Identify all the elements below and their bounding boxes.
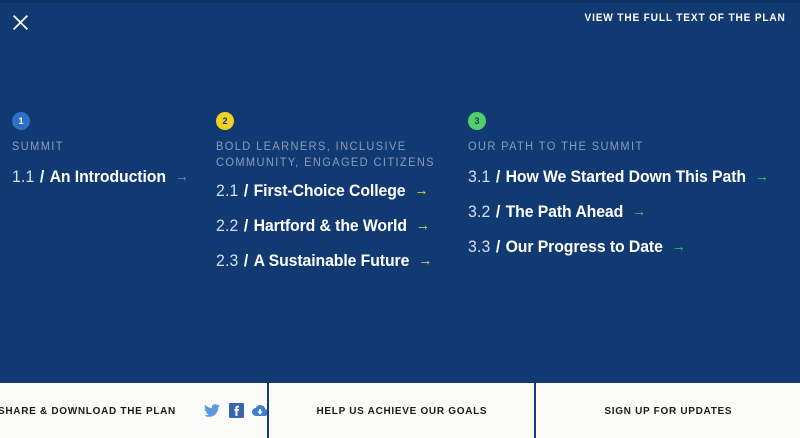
plan-section-1: 1 SUMMIT 1.1 / An Introduction → <box>12 112 207 202</box>
link-number: 2.1 <box>216 181 239 200</box>
link-title: The Path Ahead <box>506 202 624 221</box>
link-separator: / <box>495 167 501 186</box>
close-icon <box>12 14 29 31</box>
link-number: 3.1 <box>468 167 491 186</box>
plan-section-2: 2 BOLD LEARNERS, INCLUSIVE COMMUNITY, EN… <box>216 112 461 286</box>
plan-navigation-overlay: VIEW THE FULL TEXT OF THE PLAN 1 SUMMIT … <box>0 0 800 438</box>
link-separator: / <box>39 167 45 186</box>
sign-up-updates-label: SIGN UP FOR UPDATES <box>604 405 732 417</box>
link-number: 3.2 <box>468 202 491 221</box>
link-number: 2.3 <box>216 251 239 270</box>
sign-up-updates-cell[interactable]: SIGN UP FOR UPDATES <box>534 383 800 438</box>
link-separator: / <box>243 251 249 270</box>
link-title: Our Progress to Date <box>506 237 663 256</box>
arrow-right-icon: → <box>628 203 647 220</box>
plan-link-2-1[interactable]: 2.1 / First-Choice College → <box>216 181 444 201</box>
help-us-achieve-goals-label: HELP US ACHIEVE OUR GOALS <box>316 405 487 417</box>
link-separator: / <box>495 237 501 256</box>
plan-link-2-2[interactable]: 2.2 / Hartford & the World → <box>216 216 444 236</box>
arrow-right-icon: → <box>750 168 769 185</box>
plan-link-2-3[interactable]: 2.3 / A Sustainable Future → <box>216 251 444 271</box>
link-list-2: 2.1 / First-Choice College → 2.2 / Hartf… <box>216 181 461 271</box>
section-title-1: SUMMIT <box>12 139 199 155</box>
arrow-right-icon: → <box>410 182 429 199</box>
help-us-achieve-goals-cell[interactable]: HELP US ACHIEVE OUR GOALS <box>267 383 534 438</box>
section-badge-2: 2 <box>216 112 234 130</box>
link-separator: / <box>243 216 249 235</box>
plan-link-1-1[interactable]: 1.1 / An Introduction → <box>12 167 193 187</box>
section-badge-3: 3 <box>468 112 486 130</box>
footer-bar: SHARE & DOWNLOAD THE PLAN <box>0 381 800 438</box>
facebook-icon[interactable] <box>227 402 245 420</box>
link-number: 3.3 <box>468 237 491 256</box>
link-number: 2.2 <box>216 216 239 235</box>
share-download-cell[interactable]: SHARE & DOWNLOAD THE PLAN <box>0 383 267 438</box>
section-badge-1: 1 <box>12 112 30 130</box>
link-title: An Introduction <box>50 167 166 186</box>
link-title: Hartford & the World <box>254 216 407 235</box>
link-separator: / <box>243 181 249 200</box>
arrow-right-icon: → <box>411 217 430 234</box>
view-full-text-link[interactable]: VIEW THE FULL TEXT OF THE PLAN <box>585 12 786 24</box>
link-list-1: 1.1 / An Introduction → <box>12 167 207 187</box>
top-strip <box>0 0 800 3</box>
share-download-label: SHARE & DOWNLOAD THE PLAN <box>0 405 176 417</box>
twitter-icon[interactable] <box>203 402 221 420</box>
section-title-2: BOLD LEARNERS, INCLUSIVE COMMUNITY, ENGA… <box>216 139 451 171</box>
link-number: 1.1 <box>12 167 35 186</box>
plan-link-3-2[interactable]: 3.2 / The Path Ahead → <box>468 202 766 222</box>
link-title: How We Started Down This Path <box>506 167 746 186</box>
link-title: A Sustainable Future <box>254 251 410 270</box>
close-button[interactable] <box>6 8 34 36</box>
arrow-right-icon: → <box>667 238 686 255</box>
plan-link-3-1[interactable]: 3.1 / How We Started Down This Path → <box>468 167 766 187</box>
plan-link-3-3[interactable]: 3.3 / Our Progress to Date → <box>468 237 766 257</box>
link-separator: / <box>495 202 501 221</box>
arrow-right-icon: → <box>414 252 433 269</box>
arrow-right-icon: → <box>170 168 189 185</box>
plan-section-3: 3 OUR PATH TO THE SUMMIT 3.1 / How We St… <box>468 112 788 272</box>
section-title-3: OUR PATH TO THE SUMMIT <box>468 139 775 155</box>
link-title: First-Choice College <box>254 181 406 200</box>
link-list-3: 3.1 / How We Started Down This Path → 3.… <box>468 167 788 257</box>
